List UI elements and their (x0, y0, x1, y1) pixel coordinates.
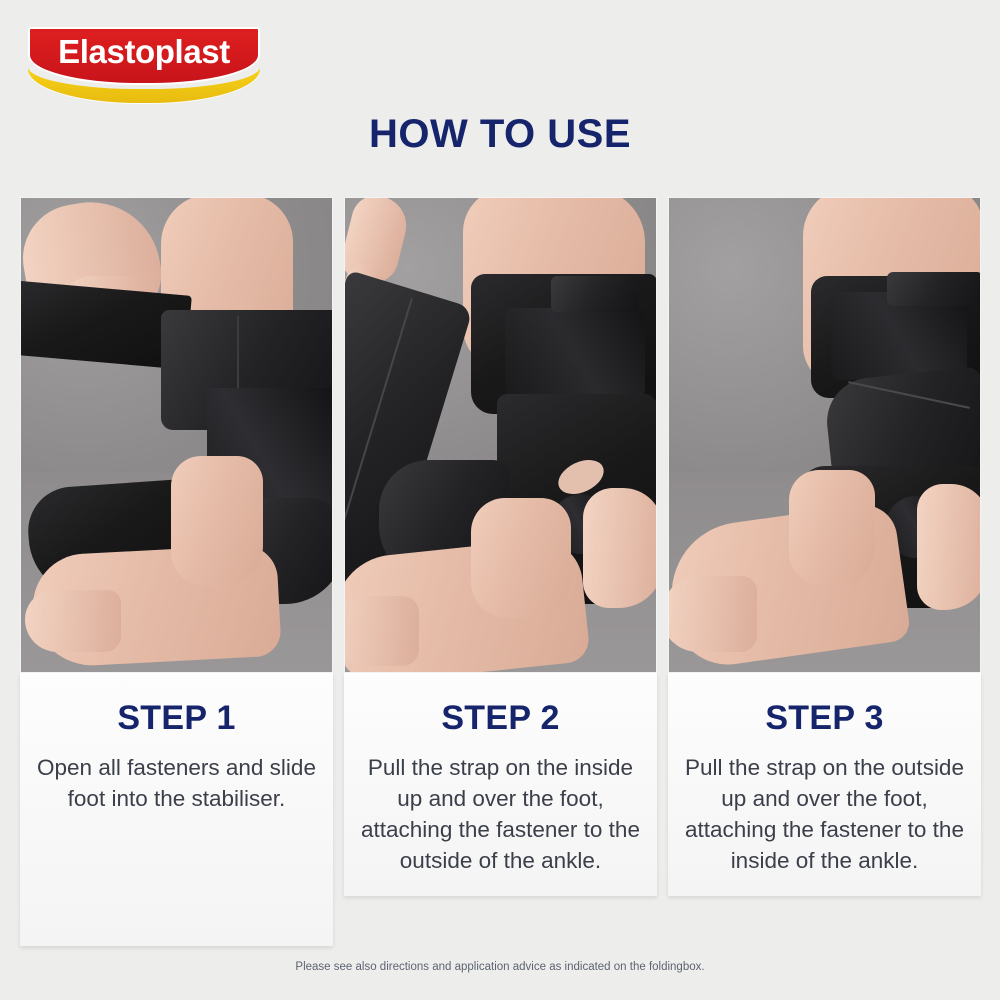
step-photo-1 (20, 197, 333, 673)
cuff-tab (551, 276, 639, 312)
step-body: Open all fasteners and slide foot into t… (32, 752, 321, 814)
steps-container: STEP 1 Open all fasteners and slide foot… (20, 197, 982, 946)
step-heading: STEP 2 (356, 699, 645, 738)
cuff-tab (887, 272, 981, 306)
step-body: Pull the strap on the inside up and over… (356, 752, 645, 876)
step-heading: STEP 3 (680, 699, 969, 738)
step-body: Pull the strap on the outside up and ove… (680, 752, 969, 876)
heel-shape (583, 488, 657, 608)
toes-shape (668, 576, 757, 652)
toes-shape (344, 596, 419, 666)
step-column-1: STEP 1 Open all fasteners and slide foot… (20, 197, 333, 946)
brand-logo: Elastoplast (28, 27, 260, 103)
toes-shape (25, 590, 121, 652)
footnote-cutoff-row (0, 994, 1000, 1000)
step-card-1: STEP 1 Open all fasteners and slide foot… (20, 673, 333, 946)
step-column-2: STEP 2 Pull the strap on the inside up a… (344, 197, 657, 946)
footnote: Please see also directions and applicati… (0, 961, 1000, 973)
ankle-shape (471, 498, 571, 618)
page-title: HOW TO USE (0, 112, 1000, 157)
cuff-velcro-patch (505, 308, 645, 400)
step-column-3: STEP 3 Pull the strap on the outside up … (668, 197, 981, 946)
step-card-3: STEP 3 Pull the strap on the outside up … (668, 673, 981, 896)
logo-wordmark: Elastoplast (28, 27, 260, 77)
step-heading: STEP 1 (32, 699, 321, 738)
step-photo-2 (344, 197, 657, 673)
step-card-2: STEP 2 Pull the strap on the inside up a… (344, 673, 657, 896)
step-photo-3 (668, 197, 981, 673)
heel-shape (917, 484, 981, 610)
ankle-shape (171, 456, 263, 586)
ankle-shape (789, 470, 875, 586)
